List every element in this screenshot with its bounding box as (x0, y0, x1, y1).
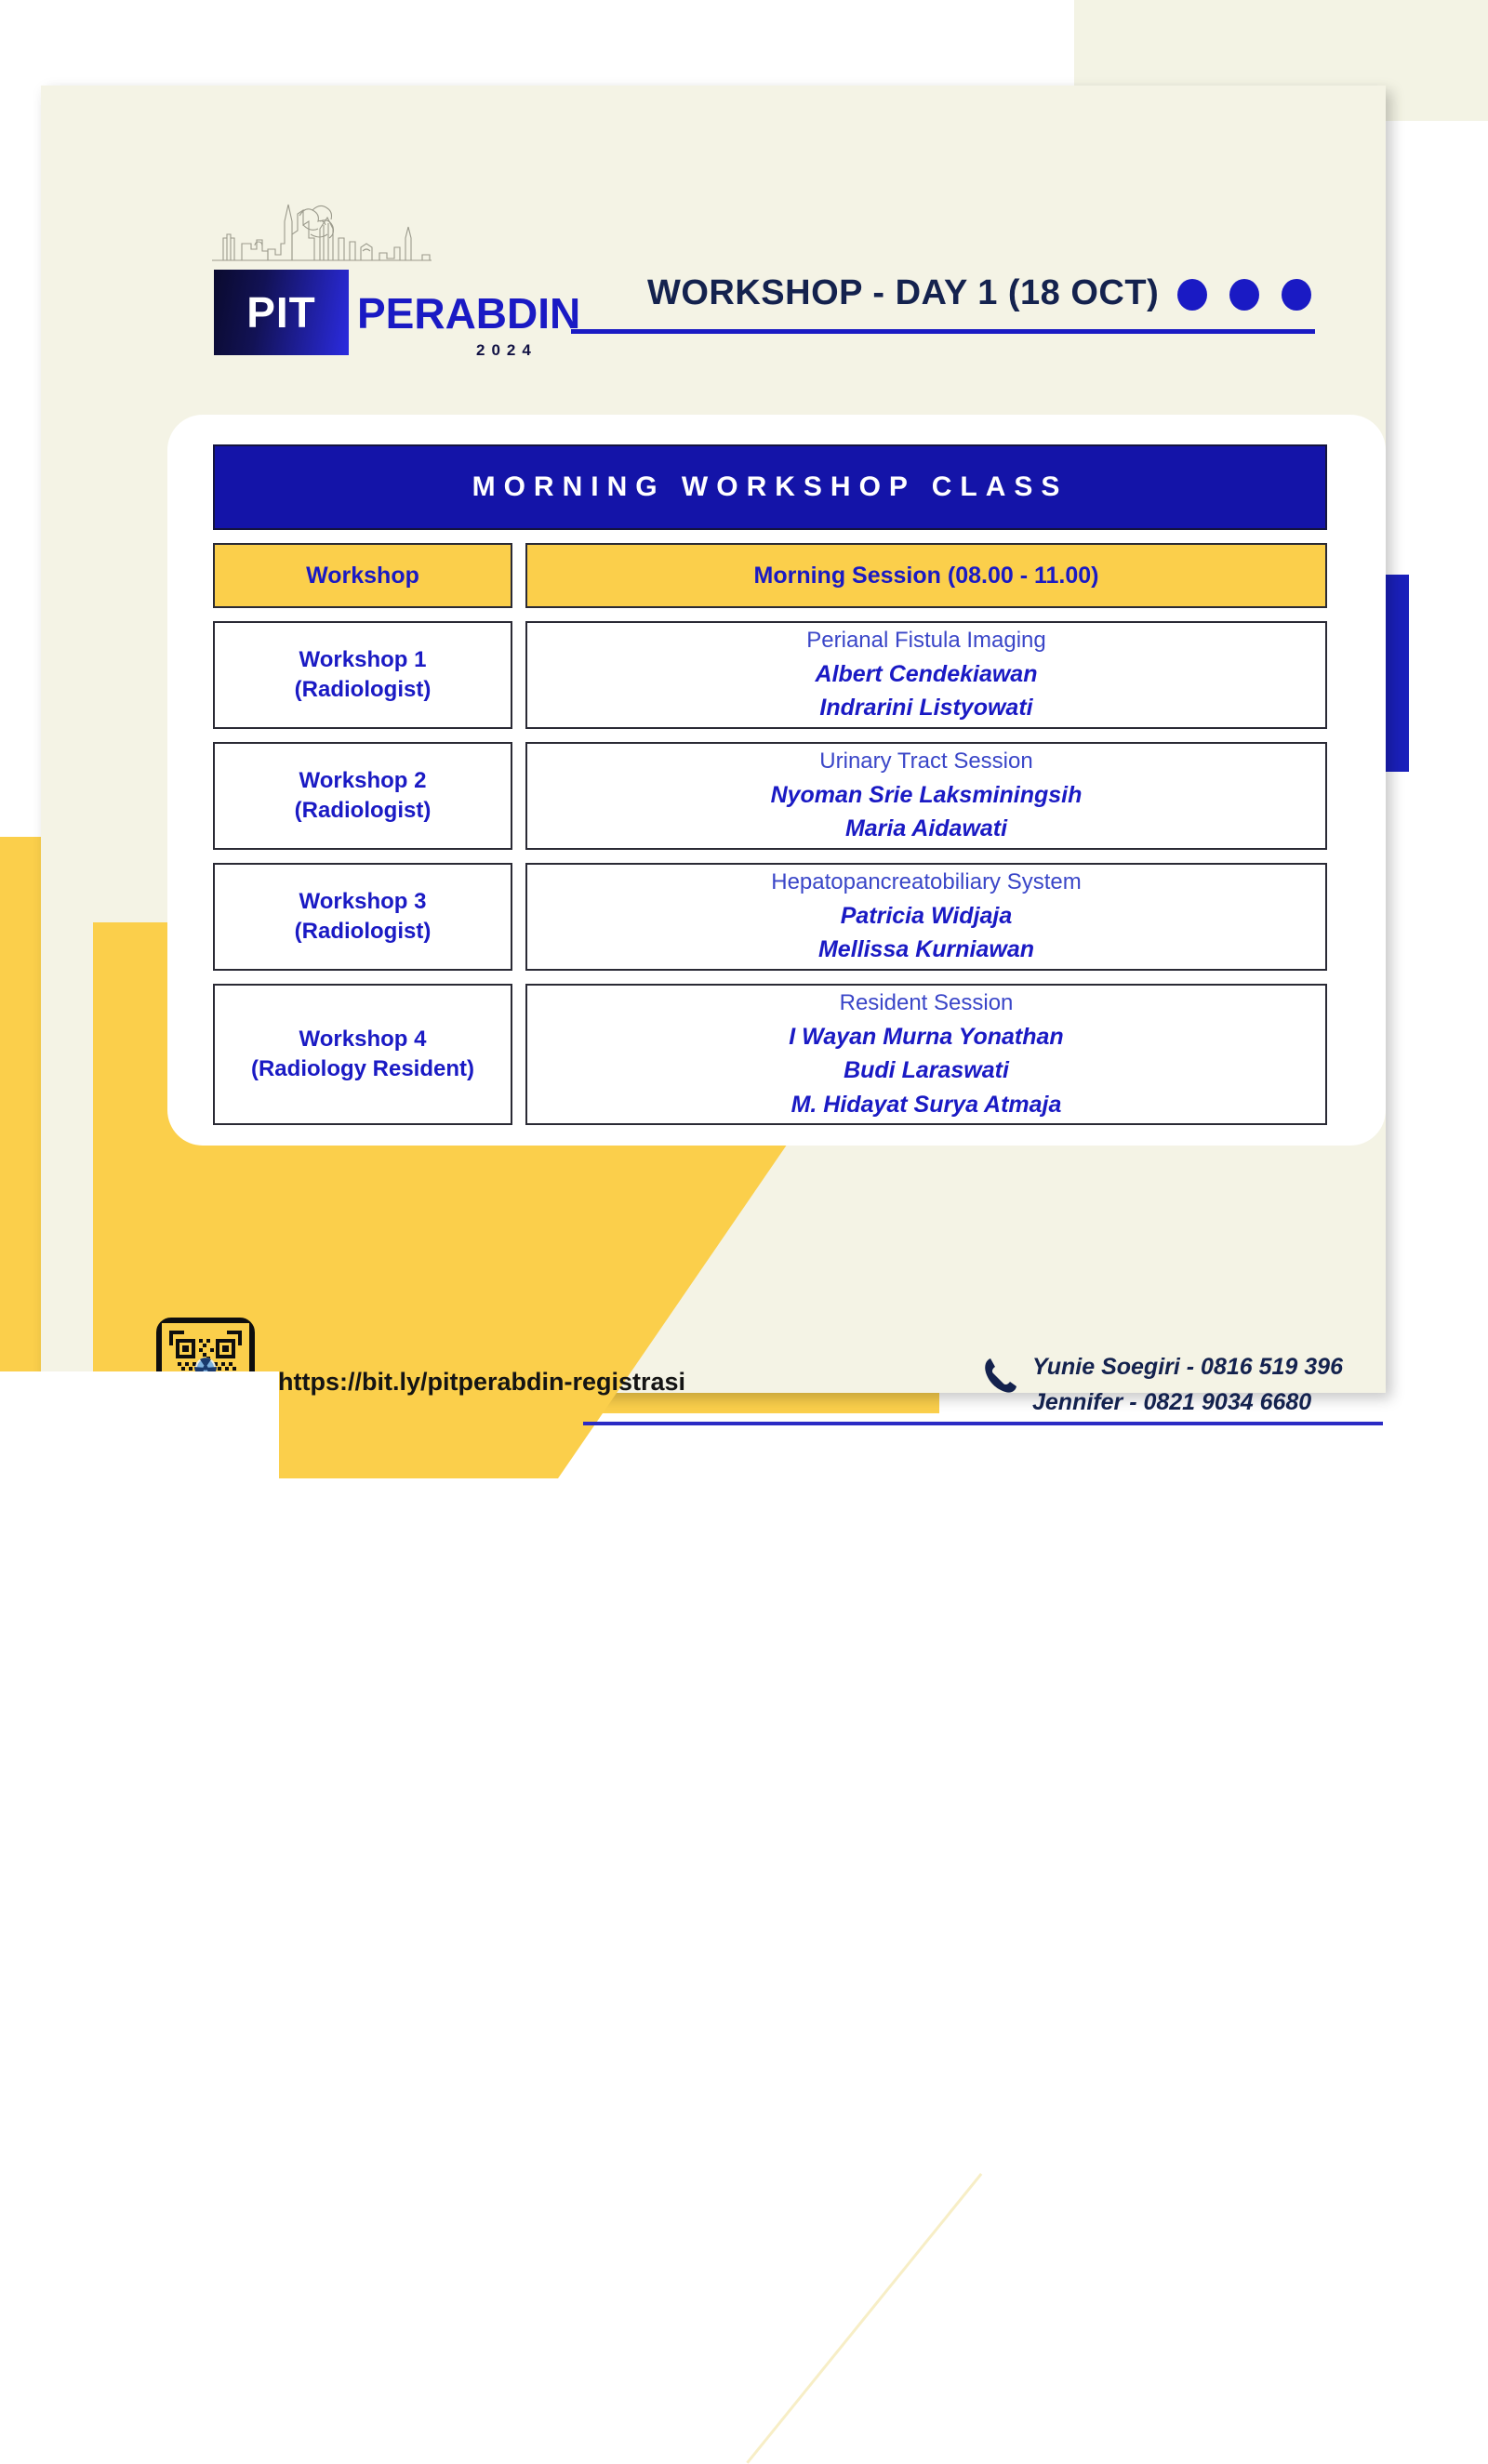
footer-divider (583, 1422, 1383, 1425)
dot-2 (1229, 279, 1259, 311)
table-row: Workshop 1 (Radiologist) Perianal Fistul… (213, 621, 1327, 729)
header-dots (1177, 279, 1311, 311)
poster-card: PIT PERABDIN 2024 WORKSHOP - DAY 1 (18 O… (41, 86, 1386, 1393)
workshop-name: Workshop 2 (299, 766, 427, 796)
session-speaker: Budi Laraswati (844, 1053, 1009, 1087)
column-header-workshop: Workshop (213, 543, 512, 608)
dot-1 (1177, 279, 1207, 311)
phone-icon (982, 1356, 1017, 1395)
session-speaker: Mellissa Kurniawan (818, 933, 1034, 966)
column-header-workshop-label: Workshop (306, 563, 419, 590)
session-speaker: M. Hidayat Surya Atmaja (791, 1088, 1062, 1121)
session-speaker: Maria Aidawati (845, 812, 1007, 845)
column-header-session-label: Morning Session (08.00 - 11.00) (754, 563, 1099, 590)
contact-item: Jennifer - 0821 9034 6680 (1032, 1385, 1343, 1421)
table-row: Workshop 3 (Radiologist) Hepatopancreato… (213, 863, 1327, 971)
row-workshop-cell: Workshop 3 (Radiologist) (213, 863, 512, 971)
background-white-bottom-left (0, 1371, 279, 1488)
logo-perabdin-text: PERABDIN (357, 288, 580, 338)
session-title: Hepatopancreatobiliary System (771, 867, 1082, 899)
schedule-table: MORNING WORKSHOP CLASS Workshop Morning … (213, 444, 1327, 1125)
table-band-label: MORNING WORKSHOP CLASS (472, 471, 1069, 503)
brand-logo: PIT PERABDIN 2024 (206, 197, 560, 364)
row-workshop-cell: Workshop 2 (Radiologist) (213, 742, 512, 850)
session-speaker: Indrarini Listyowati (819, 691, 1032, 724)
page-title: WORKSHOP - DAY 1 (18 OCT) (647, 273, 1159, 313)
column-header-session: Morning Session (08.00 - 11.00) (525, 543, 1327, 608)
title-divider (571, 329, 1315, 334)
session-title: Perianal Fistula Imaging (806, 625, 1045, 657)
session-title: Urinary Tract Session (819, 746, 1032, 778)
logo-pit-text: PIT (246, 287, 316, 338)
row-session-cell: Perianal Fistula Imaging Albert Cendekia… (525, 621, 1327, 729)
workshop-role: (Radiologist) (295, 917, 432, 947)
workshop-name: Workshop 1 (299, 645, 427, 675)
session-speaker: Nyoman Srie Laksminingsih (771, 778, 1083, 812)
contact-item: Yunie Soegiri - 0816 519 396 (1032, 1350, 1343, 1385)
table-band: MORNING WORKSHOP CLASS (213, 444, 1327, 530)
row-workshop-cell: Workshop 4 (Radiology Resident) (213, 984, 512, 1125)
session-title: Resident Session (840, 987, 1014, 1020)
session-speaker: Patricia Widjaja (841, 899, 1013, 933)
table-header-row: Workshop Morning Session (08.00 - 11.00) (213, 543, 1327, 608)
row-session-cell: Hepatopancreatobiliary System Patricia W… (525, 863, 1327, 971)
city-skyline-icon (210, 197, 433, 262)
dot-3 (1282, 279, 1311, 311)
table-row: Workshop 2 (Radiologist) Urinary Tract S… (213, 742, 1327, 850)
logo-year-text: 2024 (476, 341, 538, 360)
row-session-cell: Urinary Tract Session Nyoman Srie Laksmi… (525, 742, 1327, 850)
row-session-cell: Resident Session I Wayan Murna Yonathan … (525, 984, 1327, 1125)
logo-badge: PIT (214, 270, 349, 355)
session-speaker: Albert Cendekiawan (816, 657, 1038, 691)
registration-url[interactable]: https://bit.ly/pitperabdin-registrasi (278, 1368, 685, 1397)
workshop-role: (Radiology Resident) (251, 1054, 474, 1084)
workshop-role: (Radiologist) (295, 796, 432, 826)
workshop-role: (Radiologist) (295, 675, 432, 705)
workshop-name: Workshop 4 (299, 1025, 427, 1054)
workshop-name: Workshop 3 (299, 887, 427, 917)
table-row: Workshop 4 (Radiology Resident) Resident… (213, 984, 1327, 1125)
contact-list: Yunie Soegiri - 0816 519 396 Jennifer - … (1032, 1350, 1343, 1420)
row-workshop-cell: Workshop 1 (Radiologist) (213, 621, 512, 729)
session-speaker: I Wayan Murna Yonathan (789, 1020, 1063, 1053)
